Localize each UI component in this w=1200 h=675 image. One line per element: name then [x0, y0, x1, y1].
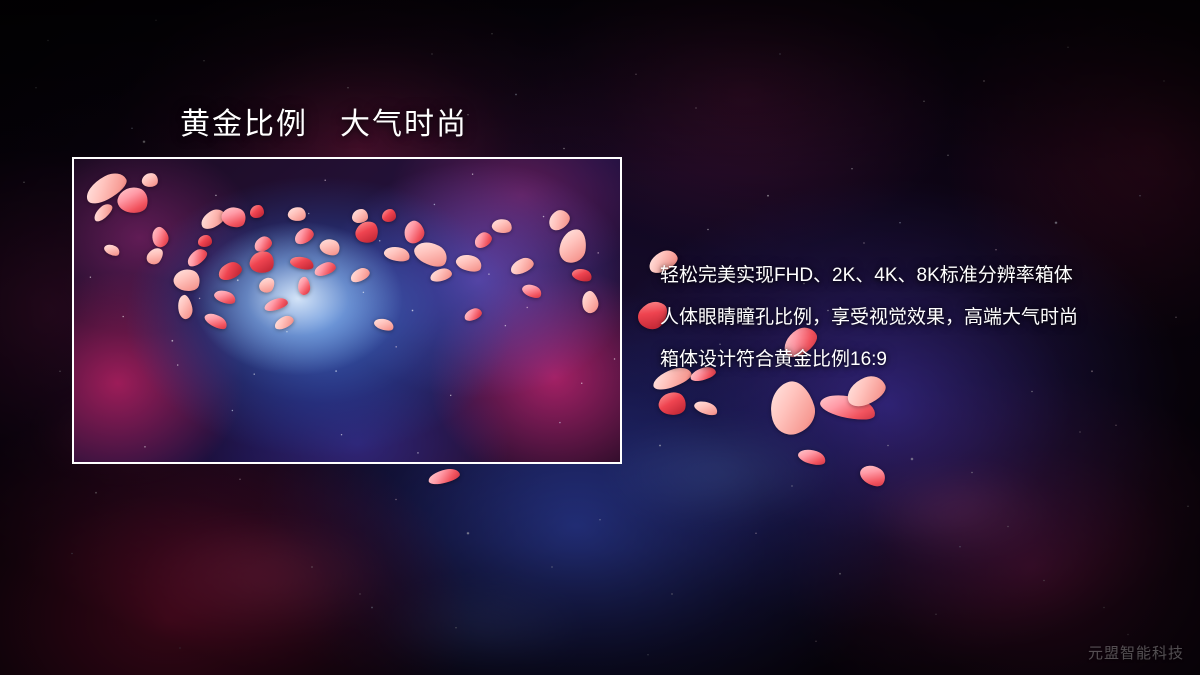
- petal-shape: [857, 460, 889, 490]
- presentation-slide: 黄金比例 大气时尚 轻松完美实现FHD、2K、4K、8K标准分辨率箱体 人体眼睛…: [0, 0, 1200, 675]
- petal-shape: [764, 377, 821, 439]
- featured-image-frame: [72, 157, 622, 464]
- description-block: 轻松完美实现FHD、2K、4K、8K标准分辨率箱体 人体眼睛瞳孔比例，享受视觉效…: [660, 255, 1160, 381]
- description-line-1: 轻松完美实现FHD、2K、4K、8K标准分辨率箱体: [660, 255, 1160, 297]
- petal-shape: [818, 390, 878, 425]
- petal-shape: [657, 389, 688, 417]
- petal-shape: [427, 467, 461, 486]
- page-title: 黄金比例 大气时尚: [180, 99, 468, 143]
- starfield-inner-icon: [74, 159, 620, 462]
- watermark-brand: 元盟智能科技: [1088, 642, 1184, 663]
- description-line-3: 箱体设计符合黄金比例16:9: [660, 339, 1160, 381]
- description-line-2: 人体眼睛瞳孔比例，享受视觉效果，高端大气时尚: [660, 297, 1160, 339]
- petal-shape: [797, 446, 828, 468]
- petal-shape: [693, 398, 720, 418]
- featured-image: [74, 159, 620, 462]
